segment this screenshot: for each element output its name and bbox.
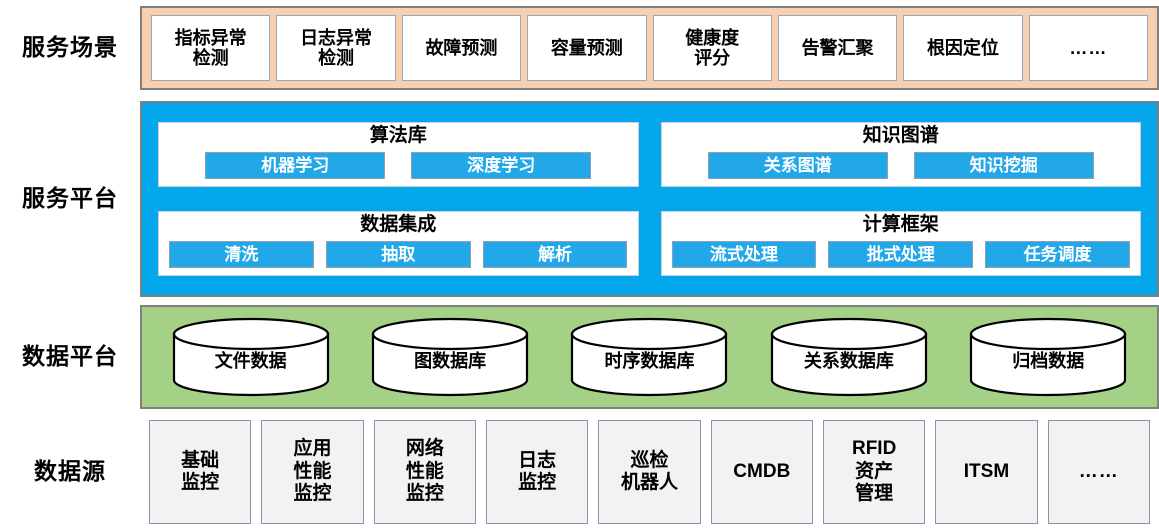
scenario-box[interactable]: 指标异常 检测 <box>151 15 270 81</box>
service-scenario-band: 指标异常 检测 日志异常 检测 故障预测 容量预测 健康度 评分 告警汇聚 根因… <box>140 6 1159 90</box>
scenario-box[interactable]: 健康度 评分 <box>653 15 772 81</box>
row-service-platform: 服务平台 算法库 机器学习 深度学习 知识图谱 关系图谱 知识挖掘 数据集成 <box>0 101 1159 297</box>
module-chip[interactable]: 机器学习 <box>205 152 385 180</box>
module-chip-row: 关系图谱 知识挖掘 <box>668 152 1135 180</box>
database-cylinder[interactable]: 图数据库 <box>370 317 530 397</box>
source-box[interactable]: 巡检 机器人 <box>598 420 700 524</box>
source-box-more[interactable]: …… <box>1048 420 1150 524</box>
database-label: 图数据库 <box>414 352 486 372</box>
database-cylinder[interactable]: 归档数据 <box>968 317 1128 397</box>
row-service-scenario: 服务场景 指标异常 检测 日志异常 检测 故障预测 容量预测 健康度 评分 告警… <box>0 6 1159 90</box>
row-label-data-platform: 数据平台 <box>0 344 140 369</box>
source-box[interactable]: CMDB <box>711 420 813 524</box>
row-data-source: 数据源 基础 监控 应用 性能 监控 网络 性能 监控 日志 监控 巡检 机器人… <box>0 420 1159 524</box>
database-label: 归档数据 <box>1012 352 1084 372</box>
source-box[interactable]: ITSM <box>935 420 1037 524</box>
module-data-integration[interactable]: 数据集成 清洗 抽取 解析 <box>158 211 639 276</box>
scenario-box-more[interactable]: …… <box>1029 15 1148 81</box>
module-chip-row: 清洗 抽取 解析 <box>169 241 628 269</box>
scenario-box[interactable]: 告警汇聚 <box>778 15 897 81</box>
module-title: 知识图谱 <box>863 126 939 147</box>
source-box[interactable]: 应用 性能 监控 <box>261 420 363 524</box>
module-chip-row: 机器学习 深度学习 <box>165 152 632 180</box>
module-chip[interactable]: 深度学习 <box>411 152 591 180</box>
row-data-platform: 数据平台 文件数据 图数据库 <box>0 305 1159 409</box>
module-chip[interactable]: 流式处理 <box>672 241 817 269</box>
module-computing-framework[interactable]: 计算框架 流式处理 批式处理 任务调度 <box>661 211 1142 276</box>
module-chip[interactable]: 清洗 <box>169 241 314 269</box>
scenario-box[interactable]: 故障预测 <box>402 15 521 81</box>
row-label-service-scenario: 服务场景 <box>0 35 140 60</box>
module-chip-row: 流式处理 批式处理 任务调度 <box>672 241 1131 269</box>
scenario-box[interactable]: 根因定位 <box>903 15 1022 81</box>
module-title: 算法库 <box>370 126 427 147</box>
row-label-data-source: 数据源 <box>0 459 140 484</box>
module-knowledge-graph[interactable]: 知识图谱 关系图谱 知识挖掘 <box>661 122 1142 187</box>
database-cylinder[interactable]: 时序数据库 <box>569 317 729 397</box>
module-chip[interactable]: 解析 <box>483 241 628 269</box>
module-chip[interactable]: 批式处理 <box>828 241 973 269</box>
data-platform-band: 文件数据 图数据库 时序数据库 <box>140 305 1159 409</box>
data-source-band: 基础 监控 应用 性能 监控 网络 性能 监控 日志 监控 巡检 机器人 CMD… <box>140 420 1159 524</box>
module-chip[interactable]: 抽取 <box>326 241 471 269</box>
module-algorithm-library[interactable]: 算法库 机器学习 深度学习 <box>158 122 639 187</box>
database-cylinder[interactable]: 文件数据 <box>171 317 331 397</box>
module-title: 计算框架 <box>863 215 939 236</box>
service-platform-band: 算法库 机器学习 深度学习 知识图谱 关系图谱 知识挖掘 数据集成 清洗 抽取 <box>140 101 1159 297</box>
scenario-box[interactable]: 日志异常 检测 <box>276 15 395 81</box>
scenario-box[interactable]: 容量预测 <box>527 15 646 81</box>
module-chip[interactable]: 任务调度 <box>985 241 1130 269</box>
module-chip[interactable]: 知识挖掘 <box>914 152 1094 180</box>
source-box[interactable]: RFID 资产 管理 <box>823 420 925 524</box>
source-box[interactable]: 网络 性能 监控 <box>374 420 476 524</box>
database-label: 文件数据 <box>215 352 287 372</box>
source-box[interactable]: 日志 监控 <box>486 420 588 524</box>
architecture-diagram: 服务场景 指标异常 检测 日志异常 检测 故障预测 容量预测 健康度 评分 告警… <box>0 0 1159 530</box>
module-title: 数据集成 <box>360 215 436 236</box>
database-cylinder[interactable]: 关系数据库 <box>769 317 929 397</box>
database-label: 关系数据库 <box>804 352 894 372</box>
source-box[interactable]: 基础 监控 <box>149 420 251 524</box>
row-label-service-platform: 服务平台 <box>0 186 140 211</box>
database-label: 时序数据库 <box>604 352 694 372</box>
module-chip[interactable]: 关系图谱 <box>708 152 888 180</box>
